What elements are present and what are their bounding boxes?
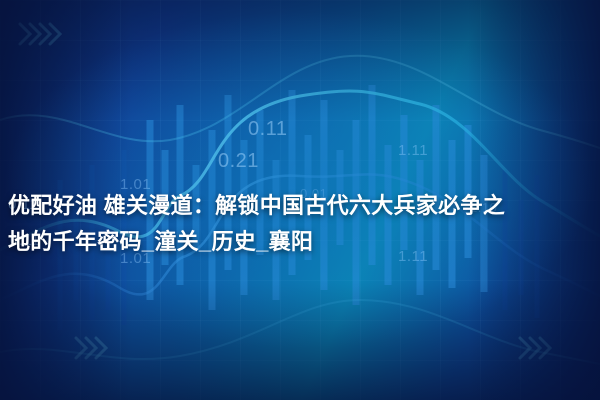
overlay-number: 0.11 <box>10 232 40 249</box>
overlay-number: 1.10 <box>470 200 497 215</box>
overlay-number: 0.21 <box>218 150 259 173</box>
overlay-number: 0.01 <box>300 186 327 201</box>
vignette-overlay <box>0 0 600 400</box>
banner-title-line-2: 地的千年密码_潼关_历史_襄阳 <box>8 224 592 260</box>
overlay-number: 0.11 <box>8 196 38 213</box>
chart-bars-layer <box>0 0 600 400</box>
overlay-number: 1.01 <box>120 250 151 267</box>
overlay-number: 1.11 <box>398 248 428 265</box>
overlay-number: 1.11 <box>398 142 428 159</box>
overlay-number: 0.11 <box>248 118 287 141</box>
banner-title: 优配好油 雄关漫道：解锁中国古代六大兵家必争之 地的千年密码_潼关_历史_襄阳 <box>0 188 600 260</box>
promo-banner: 0.11 0.21 1.11 1.01 0.11 0.11 1.01 1.11 … <box>0 0 600 400</box>
chart-lines-layer <box>0 0 600 400</box>
chevron-layer <box>0 0 600 400</box>
background-grid <box>0 0 600 400</box>
overlay-number: 1.01 <box>120 176 151 193</box>
banner-title-line-1: 优配好油 雄关漫道：解锁中国古代六大兵家必争之 <box>8 188 592 224</box>
